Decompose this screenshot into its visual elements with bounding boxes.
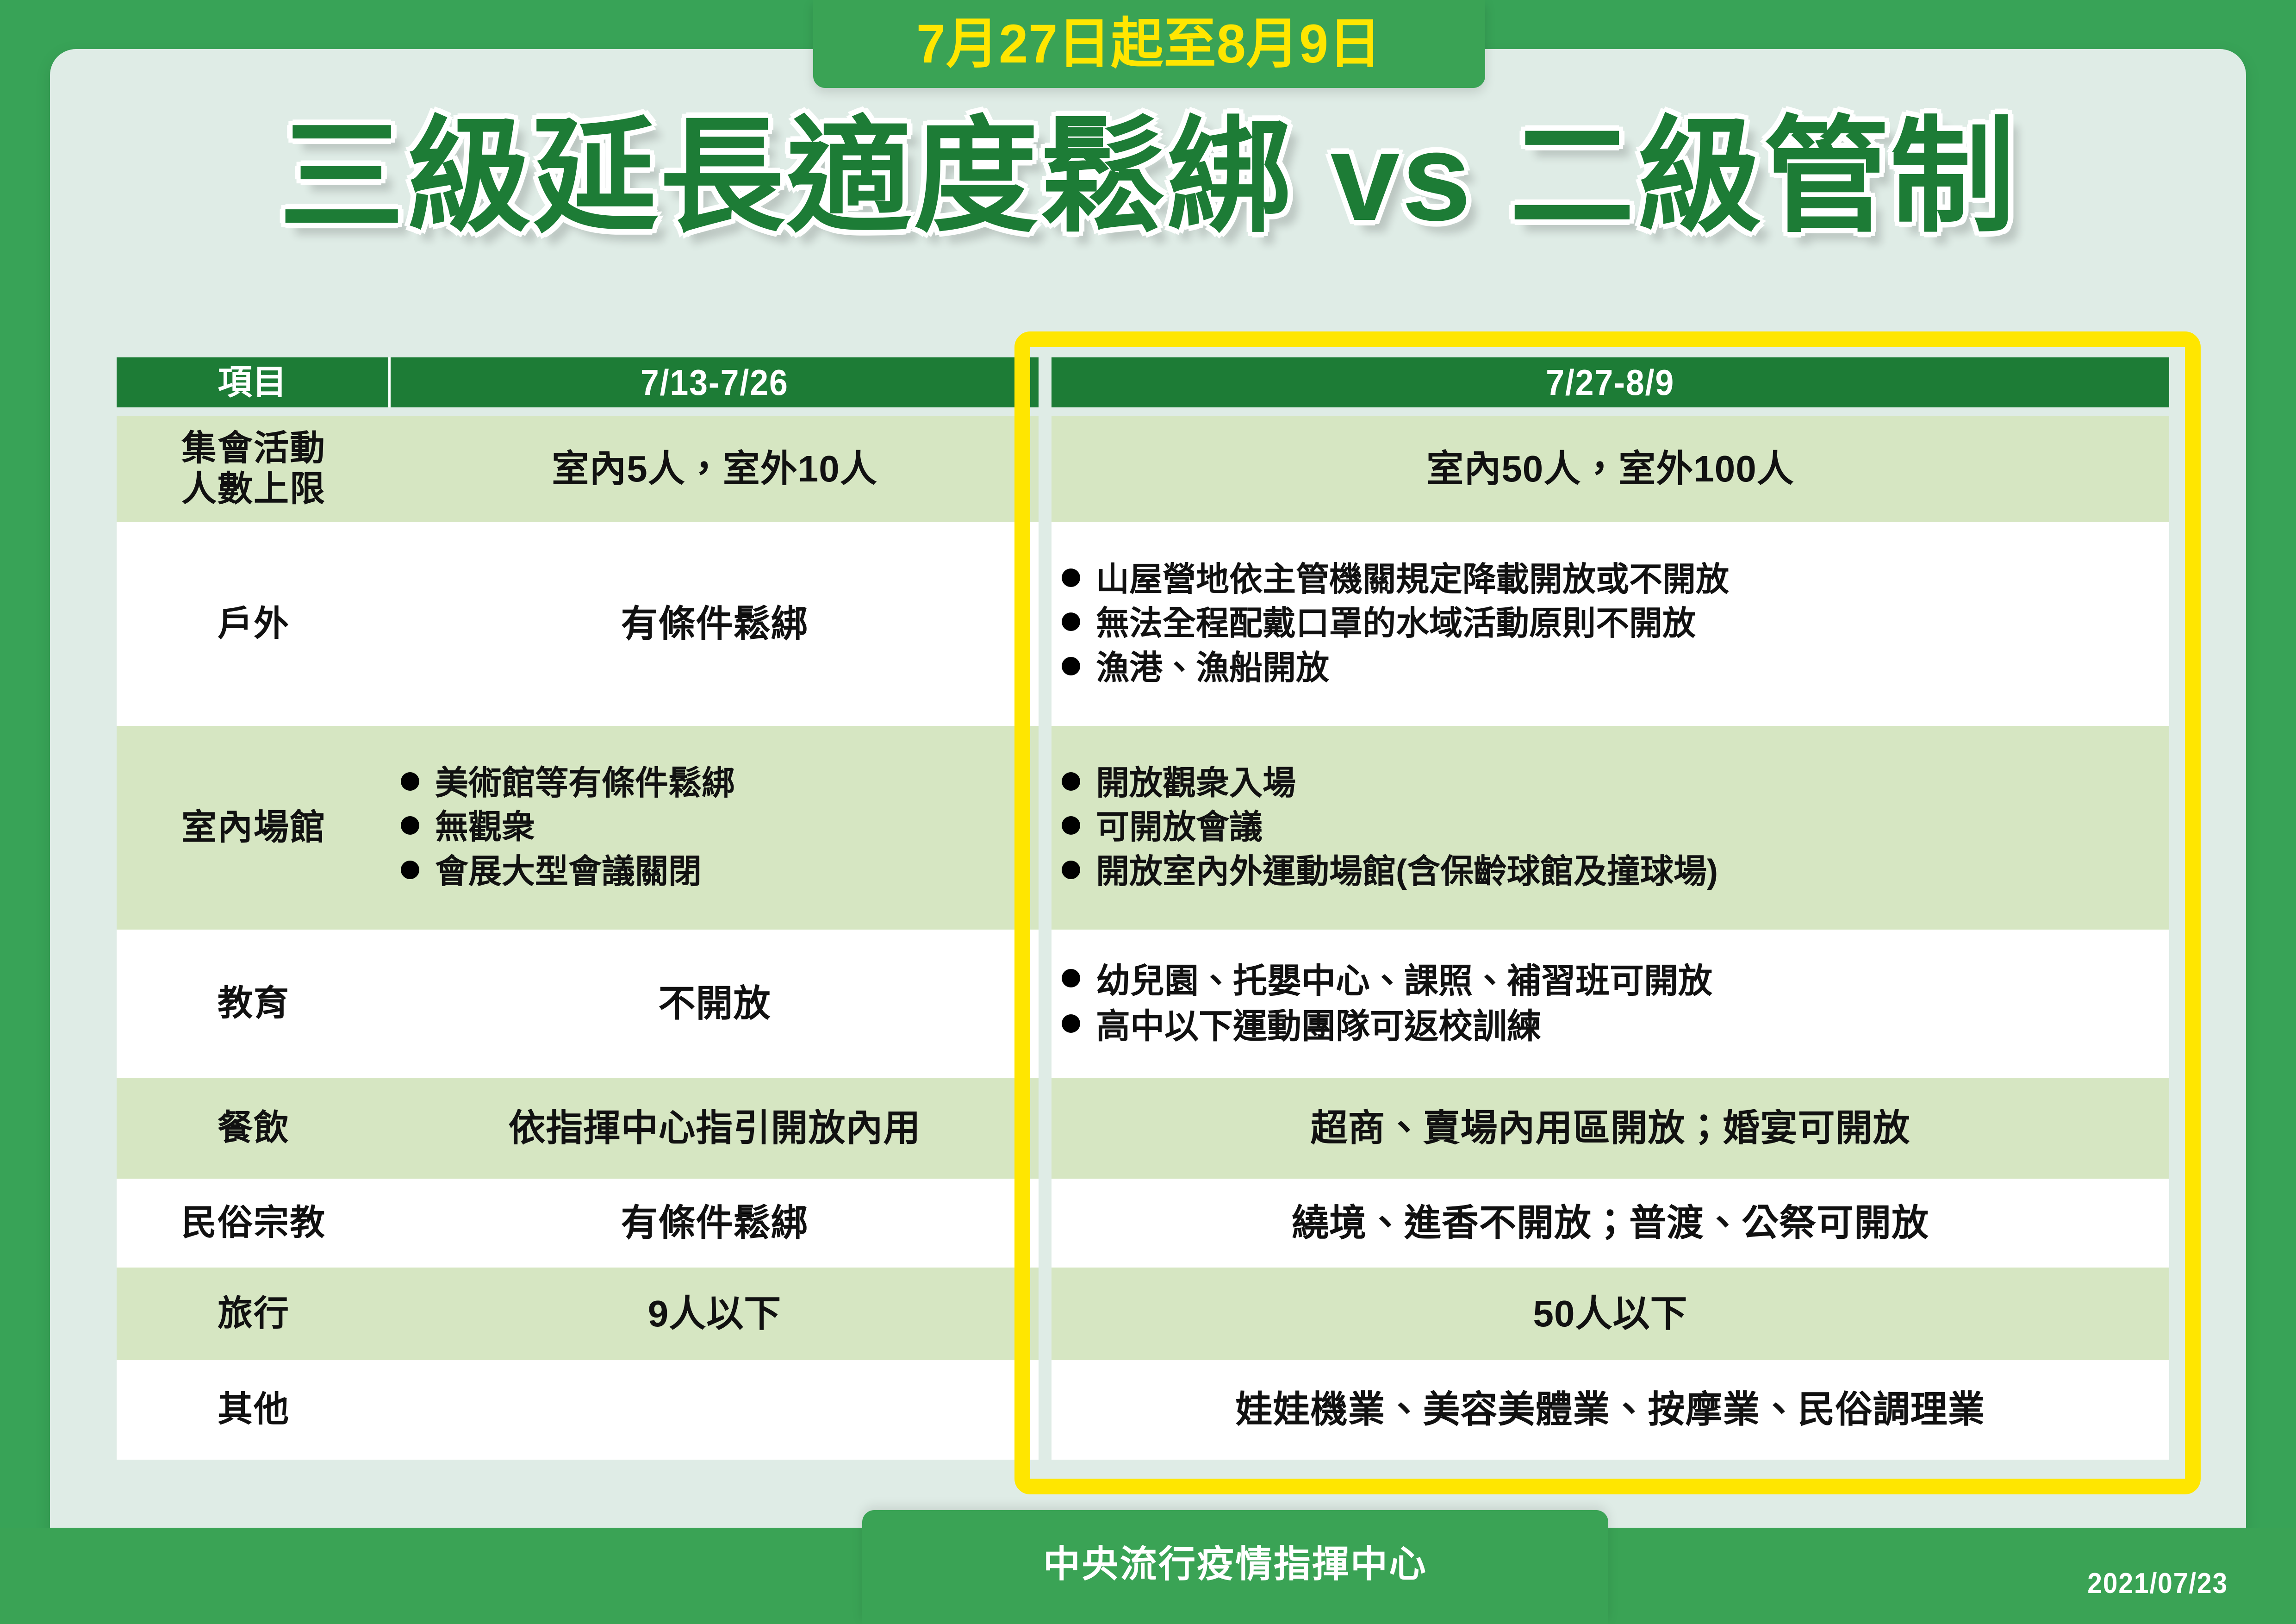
row-label-cell: 室內場館 [117, 726, 391, 930]
bullet-text: 山屋營地依主管機關規定降載開放或不開放 [1096, 558, 1729, 602]
table-row: 旅行9人以下50人以下 [117, 1268, 2169, 1360]
column-gap [1039, 1360, 1052, 1460]
new-period-value-cell: 娃娃機業、美容美體業、按摩業、民俗調理業 [1052, 1360, 2169, 1460]
bullet-dot-icon [1062, 861, 1080, 879]
old-period-value-cell [391, 1360, 1039, 1460]
table-row: 戶外有條件鬆綁山屋營地依主管機關規定降載開放或不開放無法全程配戴口罩的水域活動原… [117, 522, 2169, 726]
list-item: 會展大型會議關閉 [401, 850, 1039, 894]
table-row: 餐飲依指揮中心指引開放內用超商、賣場內用區開放；婚宴可開放 [117, 1078, 2169, 1179]
column-gap [1039, 522, 1052, 726]
row-label-cell: 教育 [117, 930, 391, 1078]
row-label: 室內場館 [181, 807, 326, 848]
table-row: 其他娃娃機業、美容美體業、按摩業、民俗調理業 [117, 1360, 2169, 1460]
old-period-value-cell: 有條件鬆綁 [391, 1179, 1039, 1268]
new-period-value-cell: 幼兒園、托嬰中心、課照、補習班可開放高中以下運動團隊可返校訓練 [1052, 930, 2169, 1078]
list-item: 開放室內外運動場館(含保齡球館及撞球場) [1062, 850, 2169, 894]
column-header-old-period: 7/13-7/26 [391, 357, 1039, 407]
old-period-value-text: 9人以下 [648, 1292, 782, 1336]
bullet-text: 會展大型會議關閉 [435, 850, 702, 894]
bullet-text: 開放室內外運動場館(含保齡球館及撞球場) [1096, 850, 1718, 894]
bullet-dot-icon [1062, 1014, 1080, 1033]
column-header-old-period-label: 7/13-7/26 [641, 364, 789, 400]
column-header-new-period-label: 7/27-8/9 [1546, 364, 1674, 400]
list-item: 美術館等有條件鬆綁 [401, 762, 1039, 806]
bullet-dot-icon [401, 816, 419, 835]
new-period-value-text: 室內50人，室外100人 [1426, 447, 1794, 491]
new-period-value-text: 繞境、進香不開放；普渡、公祭可開放 [1292, 1201, 1929, 1245]
column-gap [1039, 416, 1052, 522]
bullet-text: 漁港、漁船開放 [1096, 647, 1329, 690]
row-label-cell: 集會活動人數上限 [117, 416, 391, 522]
comparison-table: 項目 7/13-7/26 7/27-8/9 集會活動人數上限室內5人，室外10人… [117, 357, 2169, 1460]
old-period-value-bullet-list: 美術館等有條件鬆綁無觀衆會展大型會議關閉 [391, 761, 1039, 895]
table-row: 室內場館美術館等有條件鬆綁無觀衆會展大型會議關閉開放觀衆入場可開放會議開放室內外… [117, 726, 2169, 930]
footer-organization-label: 中央流行疫情指揮中心 [1043, 1546, 1427, 1583]
row-label: 教育 [218, 983, 290, 1024]
date-range-banner: 7月27日起至8月9日 [813, 0, 1485, 88]
old-period-value-cell: 室內5人，室外10人 [391, 416, 1039, 522]
old-period-value-text: 有條件鬆綁 [621, 602, 809, 646]
new-period-value-cell: 繞境、進香不開放；普渡、公祭可開放 [1052, 1179, 2169, 1268]
date-range-label: 7月27日起至8月9日 [916, 17, 1381, 71]
bullet-dot-icon [1062, 772, 1080, 791]
bullet-text: 可開放會議 [1096, 806, 1263, 849]
old-period-value-cell: 有條件鬆綁 [391, 522, 1039, 726]
column-gap [1039, 1268, 1052, 1360]
list-item: 高中以下運動團隊可返校訓練 [1062, 1004, 2169, 1049]
bullet-text: 無觀衆 [435, 806, 535, 849]
list-item: 幼兒園、托嬰中心、課照、補習班可開放 [1062, 959, 2169, 1003]
column-gap [1039, 1179, 1052, 1268]
bullet-text: 美術館等有條件鬆綁 [435, 762, 735, 806]
bullet-text: 開放觀衆入場 [1096, 762, 1296, 806]
row-label-cell: 旅行 [117, 1268, 391, 1360]
row-label: 其他 [218, 1389, 290, 1430]
bullet-text: 幼兒園、托嬰中心、課照、補習班可開放 [1096, 959, 1712, 1003]
old-period-value-cell: 依指揮中心指引開放內用 [391, 1078, 1039, 1179]
footer-organization-chip: 中央流行疫情指揮中心 [862, 1510, 1608, 1624]
row-label-cell: 餐飲 [117, 1078, 391, 1179]
list-item: 無觀衆 [401, 806, 1039, 849]
row-label: 民俗宗教 [181, 1203, 326, 1243]
list-item: 漁港、漁船開放 [1062, 647, 2169, 690]
column-gap [1039, 930, 1052, 1078]
footer-date: 2021/07/23 [2087, 1567, 2228, 1600]
new-period-value-text: 50人以下 [1533, 1292, 1688, 1336]
bullet-text: 高中以下運動團隊可返校訓練 [1096, 1004, 1541, 1049]
list-item: 無法全程配戴口罩的水域活動原則不開放 [1062, 602, 2169, 646]
row-label-cell: 其他 [117, 1360, 391, 1460]
new-period-value-text: 娃娃機業、美容美體業、按摩業、民俗調理業 [1236, 1388, 1985, 1431]
row-label: 集會活動人數上限 [181, 428, 326, 510]
column-gap [1039, 1078, 1052, 1179]
old-period-value-text: 有條件鬆綁 [621, 1201, 809, 1245]
new-period-value-cell: 超商、賣場內用區開放；婚宴可開放 [1052, 1078, 2169, 1179]
column-header-item-label: 項目 [218, 365, 287, 400]
list-item: 山屋營地依主管機關規定降載開放或不開放 [1062, 558, 2169, 602]
row-label: 戶外 [218, 604, 290, 644]
new-period-value-bullet-list: 開放觀衆入場可開放會議開放室內外運動場館(含保齡球館及撞球場) [1052, 761, 2169, 895]
bullet-dot-icon [401, 861, 419, 879]
row-label-cell: 戶外 [117, 522, 391, 726]
list-item: 開放觀衆入場 [1062, 762, 2169, 806]
new-period-value-cell: 開放觀衆入場可開放會議開放室內外運動場館(含保齡球館及撞球場) [1052, 726, 2169, 930]
new-period-value-cell: 山屋營地依主管機關規定降載開放或不開放無法全程配戴口罩的水域活動原則不開放漁港、… [1052, 522, 2169, 726]
bullet-text: 無法全程配戴口罩的水域活動原則不開放 [1096, 602, 1696, 646]
bullet-dot-icon [1062, 816, 1080, 835]
new-period-value-text: 超商、賣場內用區開放；婚宴可開放 [1311, 1106, 1910, 1150]
table-row: 教育不開放幼兒園、托嬰中心、課照、補習班可開放高中以下運動團隊可返校訓練 [117, 930, 2169, 1078]
old-period-value-text: 依指揮中心指引開放內用 [509, 1106, 921, 1150]
bullet-dot-icon [1062, 568, 1080, 587]
old-period-value-cell: 9人以下 [391, 1268, 1039, 1360]
bullet-dot-icon [1062, 612, 1080, 631]
bullet-dot-icon [1062, 657, 1080, 675]
new-period-value-cell: 室內50人，室外100人 [1052, 416, 2169, 522]
column-gap [1039, 726, 1052, 930]
table-row: 集會活動人數上限室內5人，室外10人室內50人，室外100人 [117, 416, 2169, 522]
old-period-value-cell: 不開放 [391, 930, 1039, 1078]
table-row: 民俗宗教有條件鬆綁繞境、進香不開放；普渡、公祭可開放 [117, 1179, 2169, 1268]
new-period-value-bullet-list: 山屋營地依主管機關規定降載開放或不開放無法全程配戴口罩的水域活動原則不開放漁港、… [1052, 557, 2169, 691]
bullet-dot-icon [401, 772, 419, 791]
bullet-dot-icon [1062, 969, 1080, 987]
old-period-value-cell: 美術館等有條件鬆綁無觀衆會展大型會議關閉 [391, 726, 1039, 930]
row-label: 餐飲 [218, 1108, 290, 1149]
row-label: 旅行 [218, 1293, 290, 1334]
page-title: 三級延長適度鬆綁 vs 二級管制 [0, 107, 2296, 247]
column-header-item: 項目 [117, 357, 391, 407]
old-period-value-text: 不開放 [659, 982, 771, 1025]
column-header-new-period: 7/27-8/9 [1052, 357, 2169, 407]
list-item: 可開放會議 [1062, 806, 2169, 849]
column-gap [1039, 357, 1052, 407]
new-period-value-bullet-list: 幼兒園、托嬰中心、課照、補習班可開放高中以下運動團隊可返校訓練 [1052, 958, 2169, 1049]
table-header-row: 項目 7/13-7/26 7/27-8/9 [117, 357, 2169, 407]
row-label-cell: 民俗宗教 [117, 1179, 391, 1268]
page-title-text: 三級延長適度鬆綁 vs 二級管制 [279, 107, 2016, 247]
old-period-value-text: 室內5人，室外10人 [552, 447, 877, 491]
new-period-value-cell: 50人以下 [1052, 1268, 2169, 1360]
